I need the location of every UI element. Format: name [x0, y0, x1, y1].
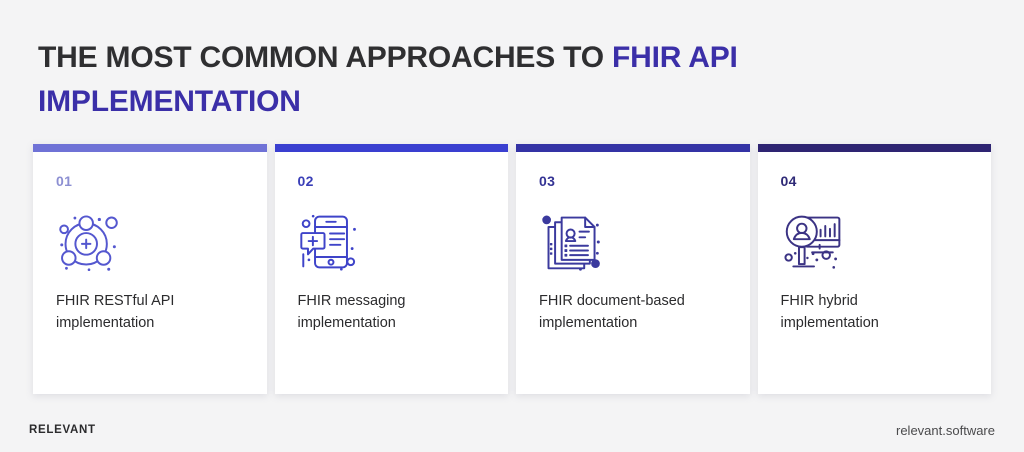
card-number: 03: [539, 174, 728, 188]
approach-card-1[interactable]: 01: [33, 144, 267, 394]
card-label: FHIR messaging implementation: [298, 290, 458, 334]
infographic-page: The most common approaches to FHIR API I…: [0, 0, 1024, 452]
card-content: 02: [275, 152, 509, 334]
card-number: 04: [781, 174, 970, 188]
title-plain-text: The most common approaches to: [38, 41, 612, 74]
card-content: 03: [516, 152, 750, 334]
page-title: The most common approaches to FHIR API I…: [38, 36, 998, 124]
card-accent-bar: [275, 144, 509, 152]
card-content: 04: [758, 152, 992, 334]
magnifier-analytics-icon: [781, 211, 847, 273]
card-label: FHIR document-based implementation: [539, 290, 699, 334]
card-number: 02: [298, 174, 487, 188]
approach-card-2[interactable]: 02: [275, 144, 509, 394]
card-accent-bar: [33, 144, 267, 152]
card-content: 01: [33, 152, 267, 334]
card-accent-bar: [758, 144, 992, 152]
title-accent-implementation: Implementation: [38, 85, 301, 118]
mobile-chat-message-icon: [298, 211, 364, 273]
network-health-nodes-icon: [56, 211, 122, 273]
card-number: 01: [56, 174, 245, 188]
card-label: FHIR hybrid implementation: [781, 290, 941, 334]
approach-cards-row: 01: [33, 144, 991, 394]
card-label: FHIR RESTful API implementation: [56, 290, 216, 334]
approach-card-3[interactable]: 03: [516, 144, 750, 394]
brand-logo: RELEVANT: [29, 424, 96, 436]
title-accent-fhir-api: FHIR API: [612, 41, 738, 74]
card-accent-bar: [516, 144, 750, 152]
approach-card-4[interactable]: 04: [758, 144, 992, 394]
website-url[interactable]: relevant.software: [896, 423, 995, 438]
document-stack-records-icon: [539, 211, 605, 273]
